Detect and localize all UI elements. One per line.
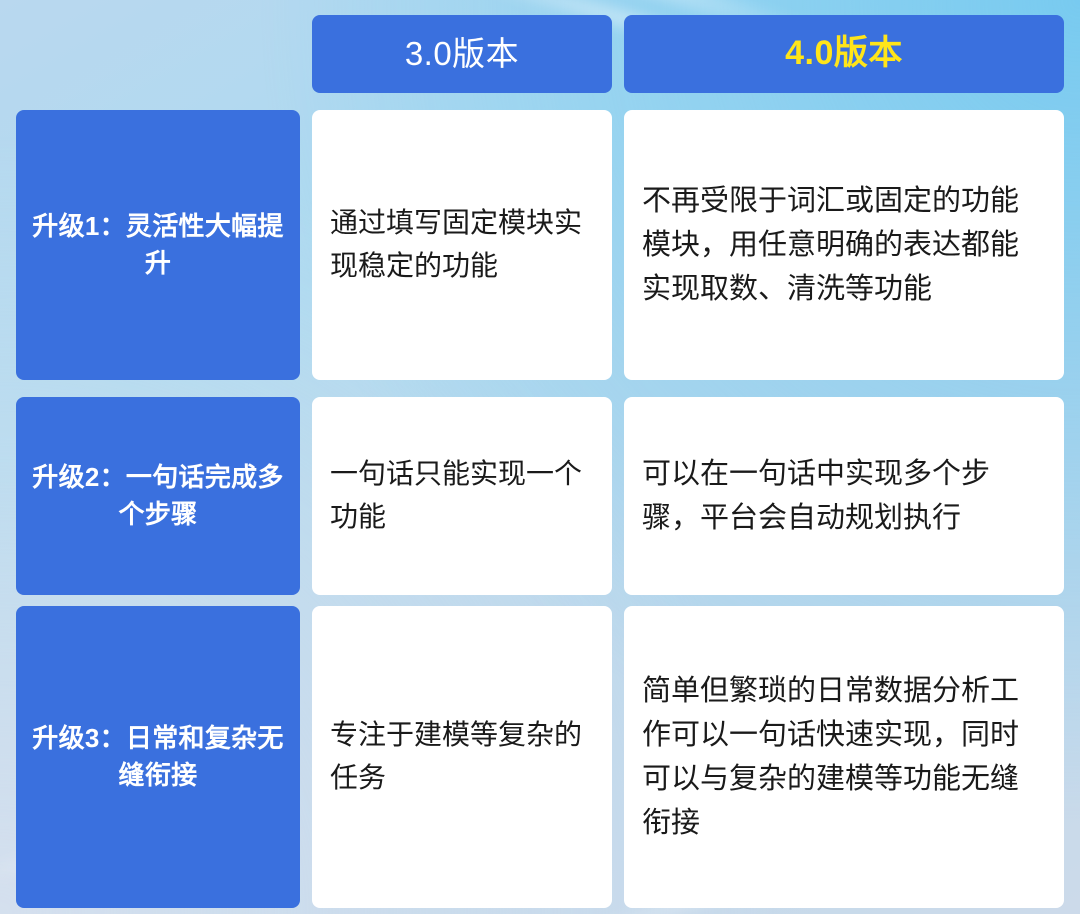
table-cell-v40-row3: 简单但繁琐的日常数据分析工作可以一句话快速实现，同时可以与复杂的建模等功能无缝衔… bbox=[624, 606, 1064, 908]
table-cell-text: 通过填写固定模块实现稳定的功能 bbox=[330, 202, 594, 287]
comparison-table: 3.0版本 4.0版本 升级1：灵活性大幅提升 通过填写固定模块实现稳定的功能 … bbox=[0, 0, 1080, 914]
row-header-upgrade-2: 升级2：一句话完成多个步骤 bbox=[16, 397, 300, 595]
table-cell-text: 专注于建模等复杂的任务 bbox=[330, 714, 594, 799]
table-cell-v30-row2: 一句话只能实现一个功能 bbox=[312, 397, 612, 595]
table-cell-v40-row1: 不再受限于词汇或固定的功能模块，用任意明确的表达都能实现取数、清洗等功能 bbox=[624, 110, 1064, 380]
table-cell-v40-row2: 可以在一句话中实现多个步骤，平台会自动规划执行 bbox=[624, 397, 1064, 595]
table-cell-text: 可以在一句话中实现多个步骤，平台会自动规划执行 bbox=[642, 452, 1046, 540]
row-header-upgrade-1: 升级1：灵活性大幅提升 bbox=[16, 110, 300, 380]
table-cell-text: 一句话只能实现一个功能 bbox=[330, 453, 594, 538]
row-header-upgrade-3: 升级3：日常和复杂无缝衔接 bbox=[16, 606, 300, 908]
column-header-version-3: 3.0版本 bbox=[312, 15, 612, 93]
table-cell-text: 简单但繁琐的日常数据分析工作可以一句话快速实现，同时可以与复杂的建模等功能无缝衔… bbox=[642, 669, 1046, 845]
table-cell-text: 不再受限于词汇或固定的功能模块，用任意明确的表达都能实现取数、清洗等功能 bbox=[642, 179, 1046, 311]
table-cell-v30-row1: 通过填写固定模块实现稳定的功能 bbox=[312, 110, 612, 380]
column-header-version-4: 4.0版本 bbox=[624, 15, 1064, 93]
table-cell-v30-row3: 专注于建模等复杂的任务 bbox=[312, 606, 612, 908]
